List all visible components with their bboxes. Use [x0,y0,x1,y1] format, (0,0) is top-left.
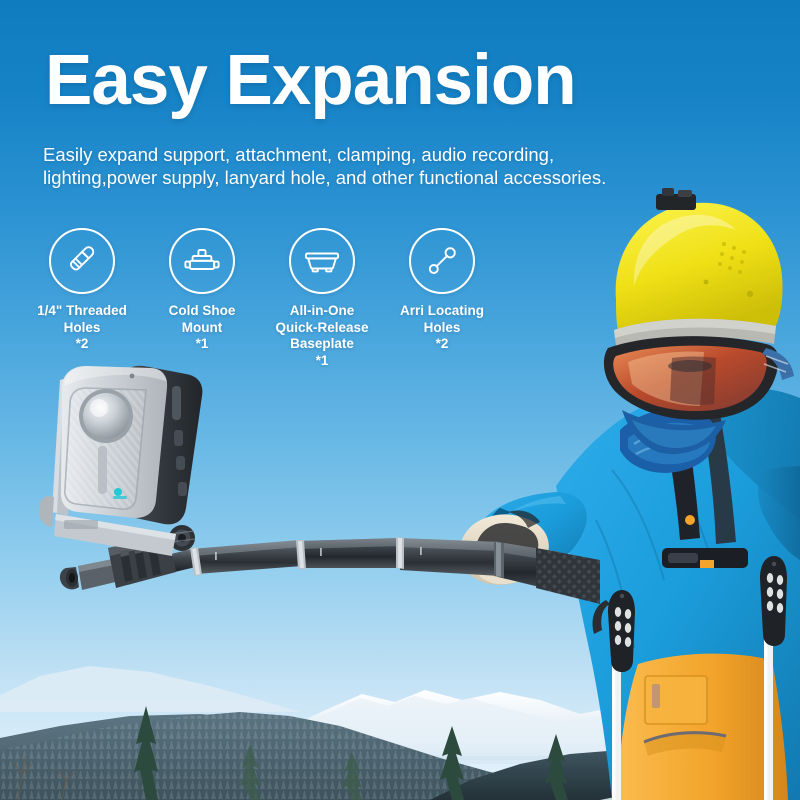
action-camera-selfie-stick [0,0,800,800]
selfie-stick-pole [120,537,600,604]
promo-image: Easy Expansion Easily expand support, at… [0,0,800,800]
action-camera [61,366,202,525]
